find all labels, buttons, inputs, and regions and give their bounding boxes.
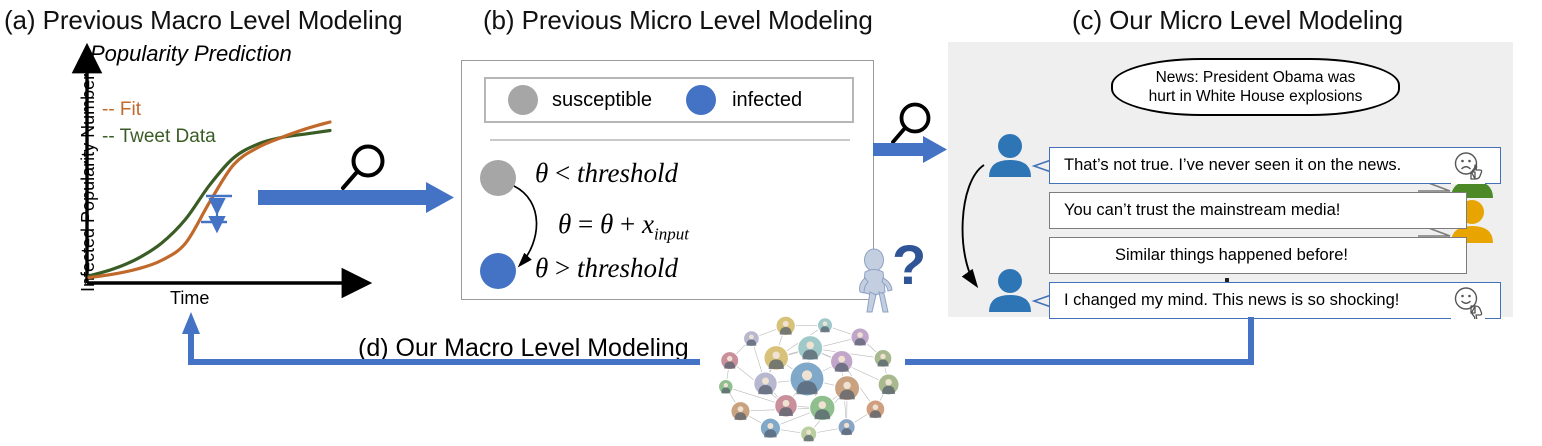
social-network-graph-icon	[700, 312, 915, 446]
network-node-avatar	[878, 374, 899, 395]
panel-b-title: (b) Previous Micro Level Modeling	[483, 5, 873, 36]
panel-c-title: (c) Our Micro Level Modeling	[1072, 5, 1403, 36]
transition-arrow-a-to-b	[258, 140, 468, 230]
svg-text:?: ?	[892, 233, 926, 296]
speaker-icon-4	[989, 269, 1031, 312]
network-node-avatar	[801, 426, 817, 442]
panel-b-micro-modeling-box: susceptible infected θ < threshold θ = θ…	[461, 60, 874, 300]
network-node-avatar	[810, 395, 835, 420]
opinion-change-arrow	[963, 165, 984, 285]
message-box-3[interactable]: Similar things happened before!	[1049, 237, 1467, 274]
question-mark-figure-icon: ?	[848, 232, 934, 318]
network-node-avatar	[744, 331, 760, 347]
message-box-4[interactable]: I changed my mind. This news is so shock…	[1049, 282, 1501, 319]
message-text-1: That’s not true. I’ve never seen it on t…	[1064, 156, 1401, 175]
message-text-2: You can’t trust the mainstream media!	[1064, 201, 1340, 220]
network-node-avatar	[817, 318, 832, 333]
message-box-2[interactable]: You can’t trust the mainstream media!	[1049, 192, 1467, 229]
blue-right-arrow	[873, 136, 947, 163]
sad-thumbs-down-icon	[1451, 150, 1485, 184]
formula-theta-update: θ = θ + xinput	[558, 209, 689, 244]
network-node-avatar	[760, 418, 780, 438]
panel-c-our-micro-modeling: News: President Obama was hurt in White …	[948, 42, 1513, 317]
network-node-avatar	[798, 336, 823, 361]
blue-right-arrow	[258, 182, 454, 213]
message-box-1[interactable]: That’s not true. I’ve never seen it on t…	[1049, 147, 1501, 184]
network-node-avatar	[835, 376, 860, 401]
happy-thumbs-up-icon	[1451, 285, 1485, 319]
network-node-avatar	[775, 395, 798, 418]
formula-theta-greater-threshold: θ > threshold	[535, 253, 678, 284]
network-node-avatar	[790, 362, 824, 396]
speaker-icon-1	[989, 134, 1031, 177]
network-node-avatar	[719, 380, 734, 395]
network-node-avatar	[764, 346, 789, 371]
network-node-avatar	[851, 328, 869, 346]
network-node-avatar	[731, 402, 750, 421]
network-node-avatar	[754, 372, 777, 395]
network-node-avatar	[838, 419, 855, 436]
susceptible-state-circle	[480, 160, 516, 196]
network-node-avatar	[776, 316, 795, 335]
message-text-3: Similar things happened before!	[1115, 246, 1348, 265]
infected-state-circle	[480, 253, 516, 289]
formula-theta-less-threshold: θ < threshold	[535, 158, 678, 189]
state-transition-arrow	[514, 186, 537, 265]
network-node-avatar	[831, 350, 853, 372]
magnifier-icon	[343, 147, 383, 189]
network-node-avatar	[874, 350, 892, 368]
network-node-avatar	[866, 400, 885, 419]
message-text-4: I changed my mind. This news is so shock…	[1064, 291, 1399, 310]
network-node-avatar	[721, 352, 739, 370]
panel-d-title: (d) Our Macro Level Modeling	[358, 334, 689, 363]
